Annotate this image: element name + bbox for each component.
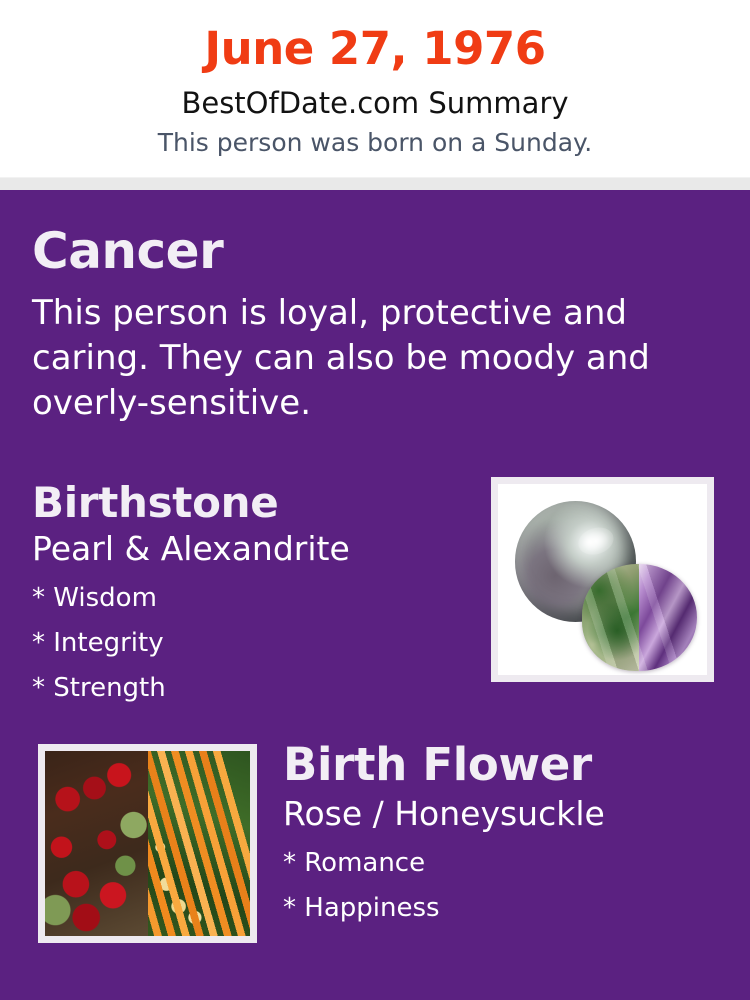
alexandrite-gem-icon [582,564,697,671]
list-item: * Integrity [32,621,472,666]
birth-flower-name: Rose / Honeysuckle [283,792,713,835]
summary-card: June 27, 1976 BestOfDate.com Summary Thi… [0,0,750,1000]
list-item: * Strength [32,666,472,711]
birth-flower-title: Birth Flower [283,738,713,792]
list-item: * Wisdom [32,576,472,621]
card-header: June 27, 1976 BestOfDate.com Summary Thi… [0,0,750,177]
birth-flower-image-frame [38,744,257,943]
red-roses-photo-half [45,751,148,936]
zodiac-sign-title: Cancer [32,222,223,280]
birthstone-name: Pearl & Alexandrite [32,528,472,570]
header-divider [0,177,750,190]
birthstone-section: Birthstone Pearl & Alexandrite * Wisdom … [32,478,472,711]
honeysuckle-photo-half [148,751,251,936]
alexandrite-facet-overlay [582,564,697,671]
birthstone-trait-list: * Wisdom * Integrity * Strength [32,576,472,711]
page-title-date: June 27, 1976 [0,24,750,74]
site-summary-label: BestOfDate.com Summary [0,86,750,120]
zodiac-description: This person is loyal, protective and car… [32,291,652,426]
birth-flower-image [45,751,250,936]
birthstone-image-frame [491,477,714,682]
birth-flower-trait-list: * Romance * Happiness [283,841,713,931]
born-day-note: This person was born on a Sunday. [0,128,750,158]
list-item: * Romance [283,841,713,886]
list-item: * Happiness [283,886,713,931]
birthstone-image [498,484,707,675]
birth-flower-section: Birth Flower Rose / Honeysuckle * Romanc… [283,738,713,931]
birthstone-title: Birthstone [32,478,472,528]
